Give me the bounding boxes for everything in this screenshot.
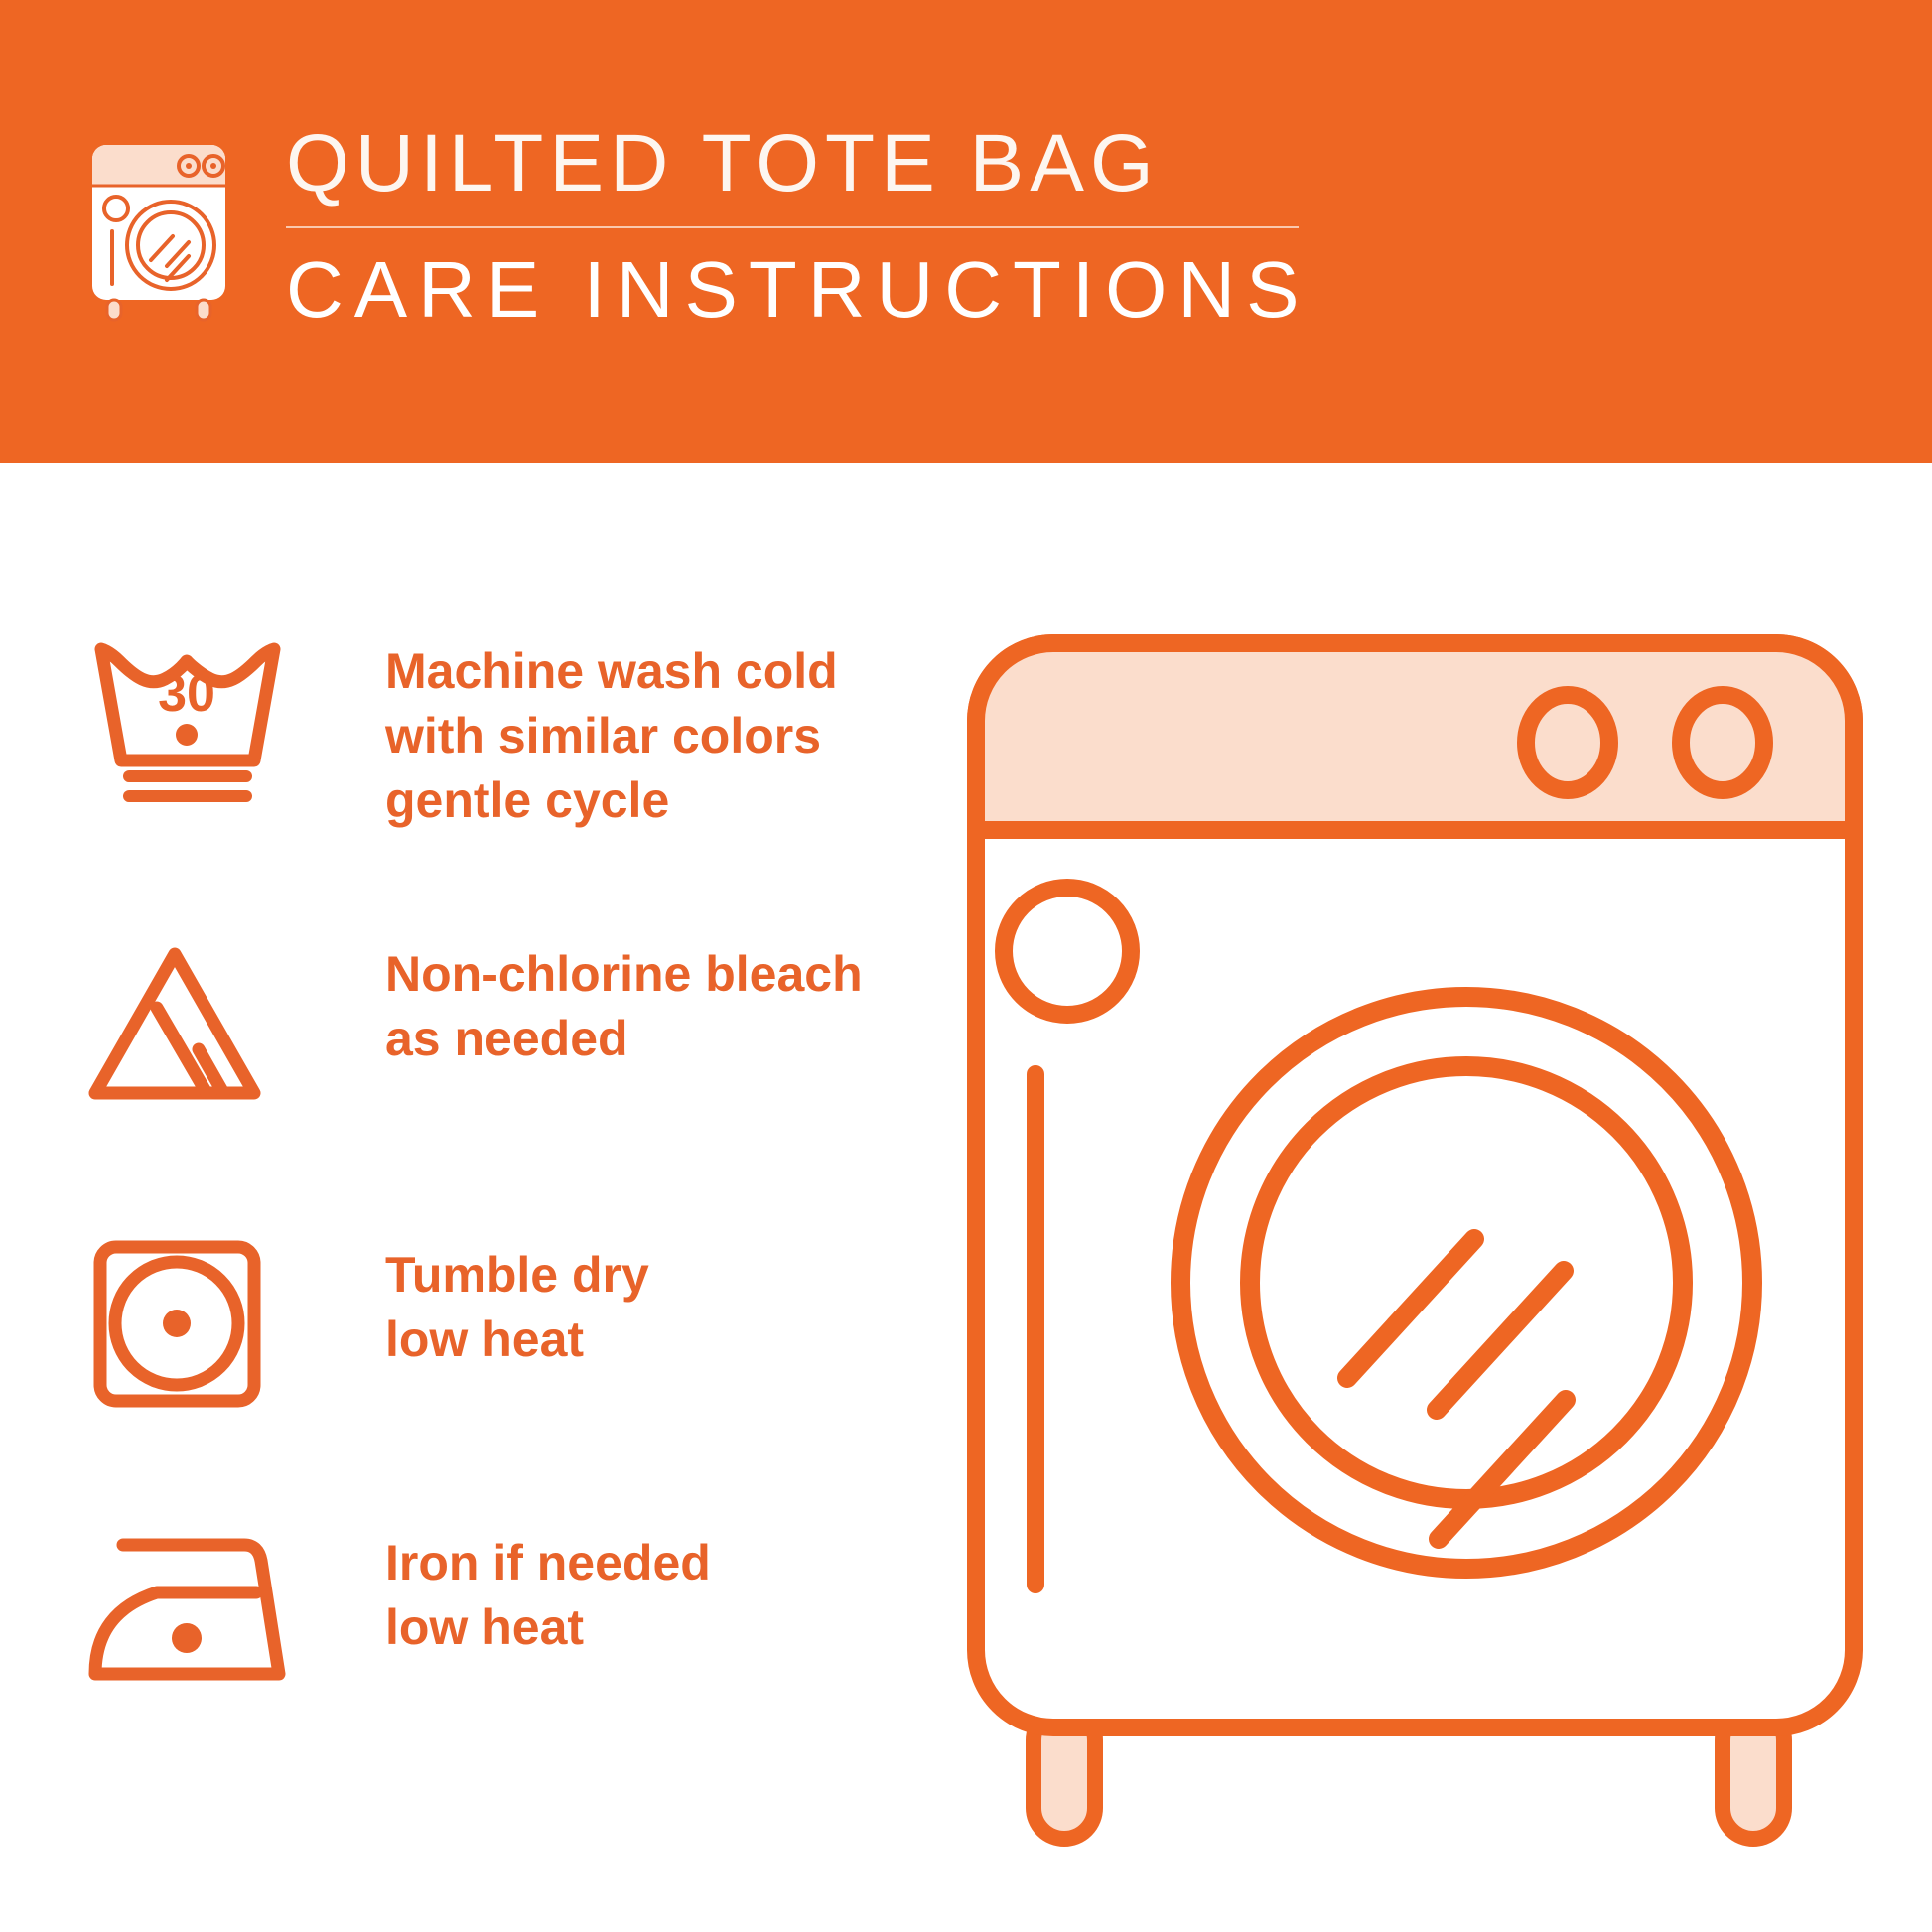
care-line: Iron if needed [385, 1531, 711, 1595]
page-title: QUILTED TOTE BAG [286, 123, 1318, 205]
care-line: Non-chlorine bleach [385, 942, 863, 1007]
header-text-block: QUILTED TOTE BAG CARE INSTRUCTIONS [286, 123, 1318, 330]
washing-machine-icon [83, 133, 234, 322]
care-line: gentle cycle [385, 768, 838, 833]
care-line: with similar colors [385, 704, 838, 768]
care-row: Iron if needed low heat [87, 1527, 711, 1696]
care-row: Non-chlorine bleach as needed [87, 938, 863, 1107]
care-line: low heat [385, 1308, 649, 1372]
care-line: low heat [385, 1595, 711, 1660]
title-divider [286, 226, 1299, 228]
wash-basin-30-gentle-icon: 30 [87, 635, 301, 804]
iron-low-heat-icon [87, 1527, 301, 1696]
care-row-text: Iron if needed low heat [385, 1527, 711, 1660]
care-row-text: Tumble dry low heat [385, 1239, 649, 1372]
care-line: as needed [385, 1007, 863, 1071]
page-subtitle: CARE INSTRUCTIONS [286, 250, 1318, 330]
tumble-dry-low-heat-icon [87, 1239, 301, 1408]
washing-machine-illustration [958, 625, 1871, 1886]
care-row-text: Non-chlorine bleach as needed [385, 938, 863, 1071]
wash-temp-label: 30 [158, 665, 215, 723]
control-panel [976, 643, 1854, 830]
care-line: Machine wash cold [385, 639, 838, 704]
care-row: 30 Machine wash cold with similar colors… [87, 635, 838, 833]
non-chlorine-bleach-triangle-icon [87, 938, 301, 1107]
care-row-text: Machine wash cold with similar colors ge… [385, 635, 838, 833]
care-row: Tumble dry low heat [87, 1239, 649, 1408]
care-line: Tumble dry [385, 1243, 649, 1308]
header-banner: QUILTED TOTE BAG CARE INSTRUCTIONS [0, 0, 1932, 463]
